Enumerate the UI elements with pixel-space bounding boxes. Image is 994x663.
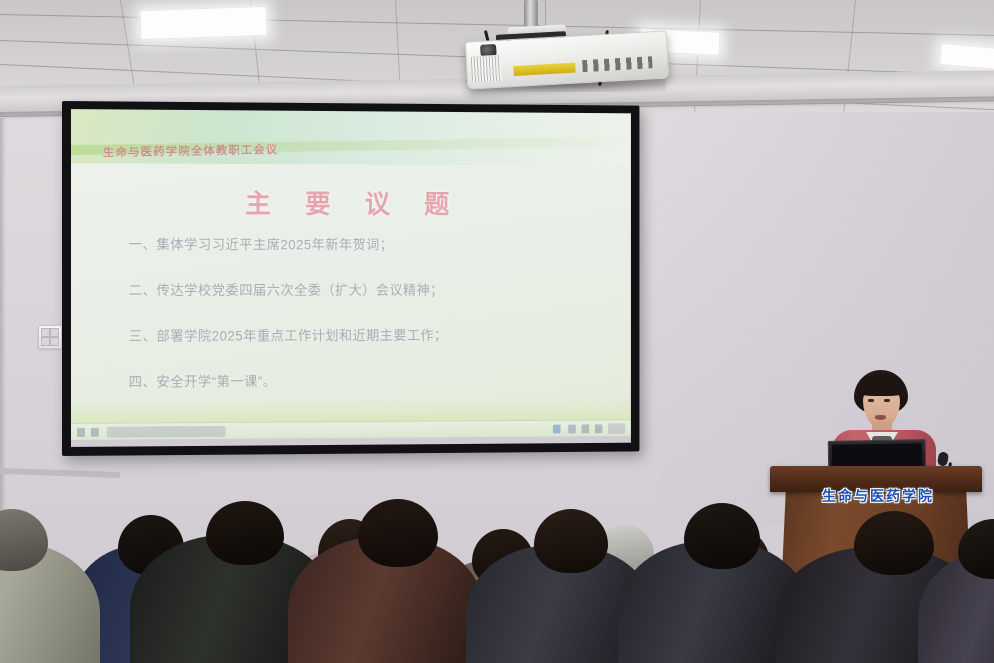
agenda-item: 四、安全开学“第一课”。 (129, 369, 603, 391)
projection-screen[interactable]: 生命与医药学院全体教职工会议 主 要 议 题 一、集体学习习近平主席2025年新… (62, 101, 639, 456)
taskbar-tray-icon[interactable] (553, 425, 561, 434)
conference-room-scene: 生命与医药学院全体教职工会议 主 要 议 题 一、集体学习习近平主席2025年新… (0, 0, 994, 663)
taskbar-clock (608, 423, 625, 434)
switch-rocker[interactable] (41, 337, 50, 346)
projector-warning-label (513, 63, 575, 76)
taskbar-tray-icon[interactable] (595, 424, 603, 433)
taskbar-tray-icon[interactable] (582, 424, 590, 433)
taskbar-window-button[interactable] (107, 426, 226, 438)
agenda-item: 二、传达学校党委四届六次全委（扩大）会议精神； (129, 279, 603, 299)
ceiling-light-panel (140, 6, 268, 40)
audience-head (854, 511, 934, 575)
switch-rocker[interactable] (50, 337, 59, 346)
switch-rocker[interactable] (41, 328, 50, 337)
presenter-mouth (875, 415, 886, 420)
audience-head (206, 501, 284, 565)
presenter-eye (868, 399, 874, 402)
audience-head (684, 503, 760, 569)
wall-corner-shadow (0, 118, 6, 538)
slide-surface: 生命与医药学院全体教职工会议 主 要 议 题 一、集体学习习近平主席2025年新… (71, 109, 631, 447)
taskbar-app-icon[interactable] (91, 428, 99, 437)
audience-head (534, 509, 608, 573)
taskbar-tray-icon[interactable] (568, 425, 576, 434)
projector-vent (471, 55, 502, 83)
projector-port-panel (582, 56, 653, 72)
podium-sign-text: 生命与医药学院 (794, 486, 962, 506)
slide-header-text: 生命与医药学院全体教职工会议 (103, 141, 278, 160)
taskbar-start-icon[interactable] (77, 428, 85, 437)
ceiling-light-panel (939, 43, 994, 71)
audience-head (358, 499, 438, 567)
slide-agenda-list: 一、集体学习习近平主席2025年新年贺词； 二、传达学校党委四届六次全委（扩大）… (129, 233, 603, 416)
slide-title: 主 要 议 题 (71, 183, 631, 221)
light-switch-plate[interactable] (38, 325, 62, 349)
switch-rocker[interactable] (50, 328, 59, 337)
agenda-item: 三、部署学院2025年重点工作计划和近期主要工作； (129, 324, 603, 345)
agenda-item: 一、集体学习习近平主席2025年新年贺词； (129, 233, 603, 253)
presenter-eye (884, 399, 890, 402)
